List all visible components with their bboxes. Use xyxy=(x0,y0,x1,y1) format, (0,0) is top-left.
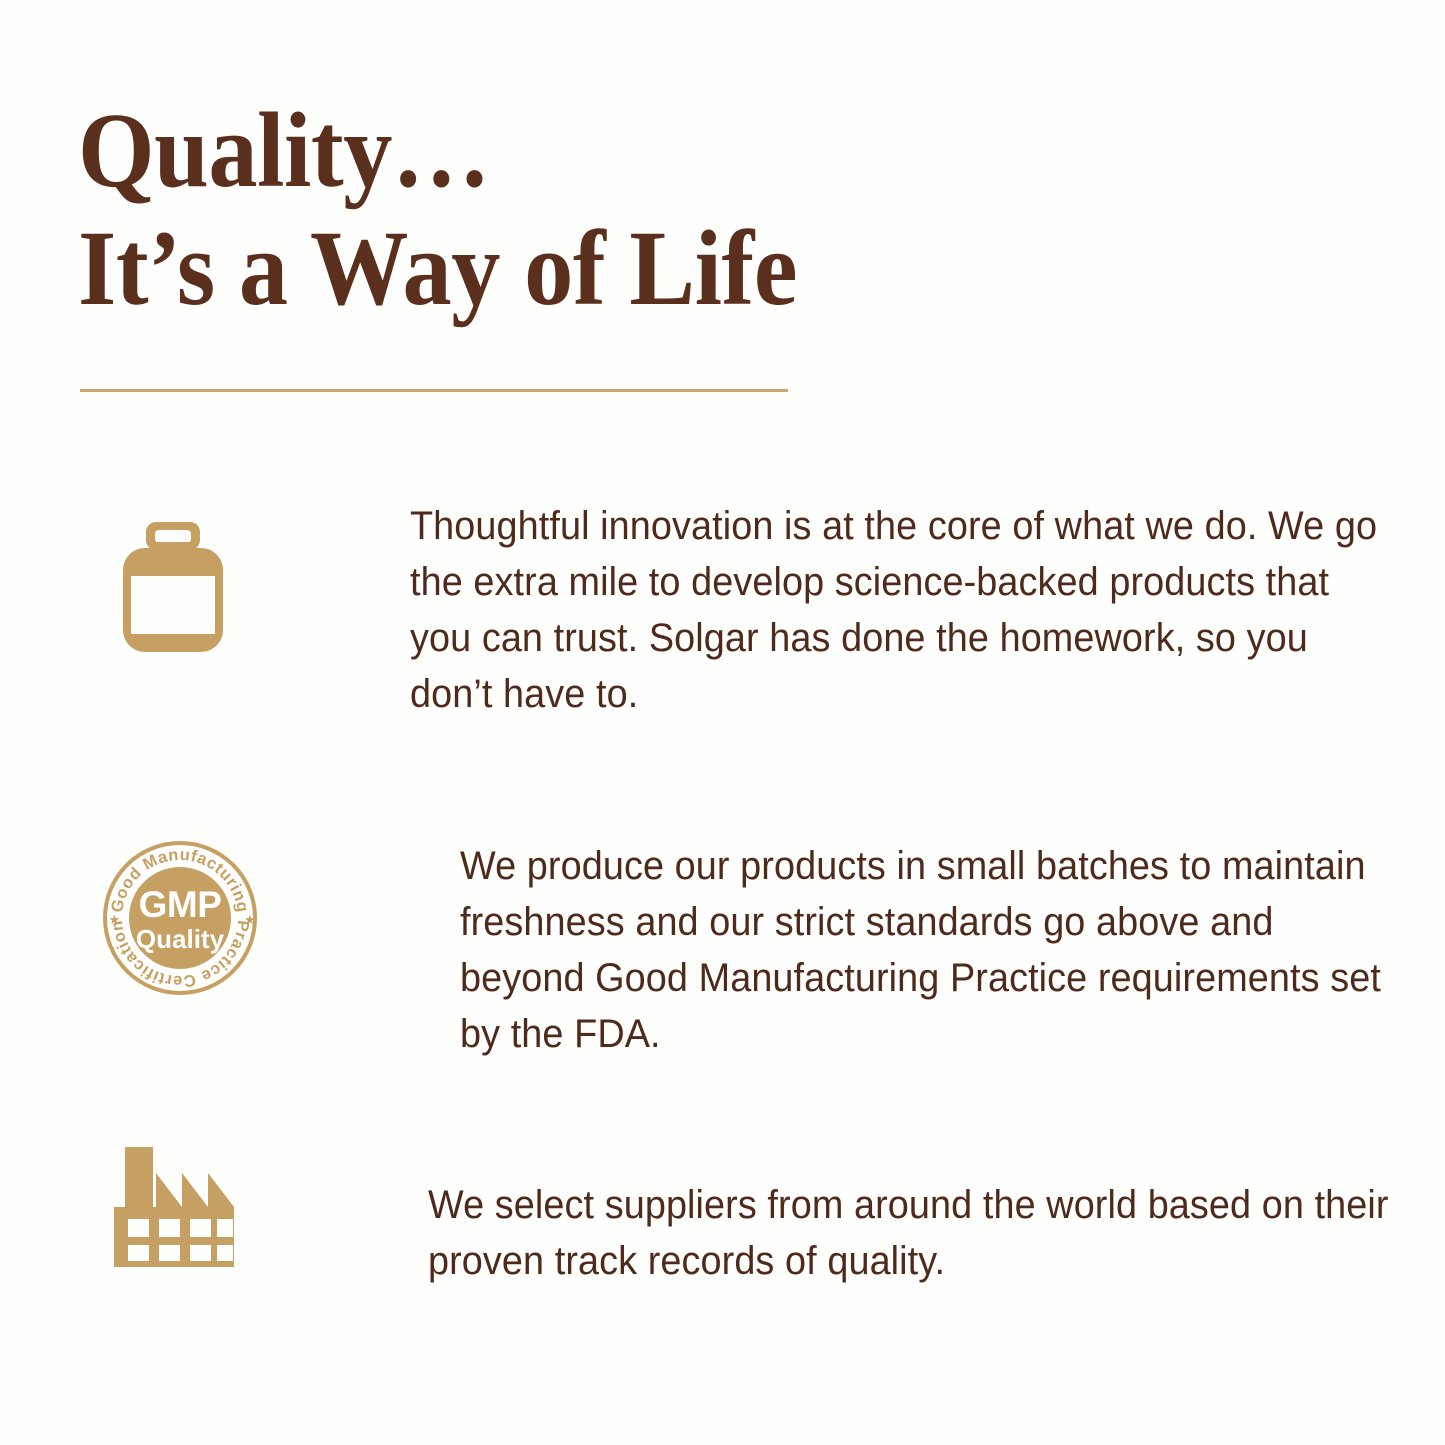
gmp-star-right-icon: ★ xyxy=(244,912,256,927)
factory-icon xyxy=(112,1145,240,1278)
feature-row-innovation: Thoughtful innovation is at the core of … xyxy=(118,498,1445,722)
feature-text-gmp: We produce our products in small batches… xyxy=(460,838,1391,1062)
page-title: Quality… It’s a Way of Life xyxy=(78,92,1178,328)
supplement-bottle-icon xyxy=(118,498,228,663)
feature-row-suppliers: We select suppliers from around the worl… xyxy=(112,1145,1445,1289)
page-title-line-1: Quality… xyxy=(78,92,1090,210)
feature-text-innovation: Thoughtful innovation is at the core of … xyxy=(410,498,1388,722)
gmp-center-label-1: GMP xyxy=(139,884,222,925)
quality-page: Quality… It’s a Way of Life Thoughtful i… xyxy=(0,0,1445,1445)
gmp-star-left-icon: ★ xyxy=(109,912,121,927)
gmp-quality-seal-icon: Good Manufacturing Practice Certificatio… xyxy=(100,838,260,1003)
title-divider xyxy=(80,389,788,392)
feature-text-suppliers: We select suppliers from around the worl… xyxy=(428,1177,1389,1289)
feature-row-gmp: Good Manufacturing Practice Certificatio… xyxy=(100,838,1445,1062)
page-title-line-2: It’s a Way of Life xyxy=(78,210,1090,328)
gmp-center-label-2: Quality xyxy=(136,924,225,954)
